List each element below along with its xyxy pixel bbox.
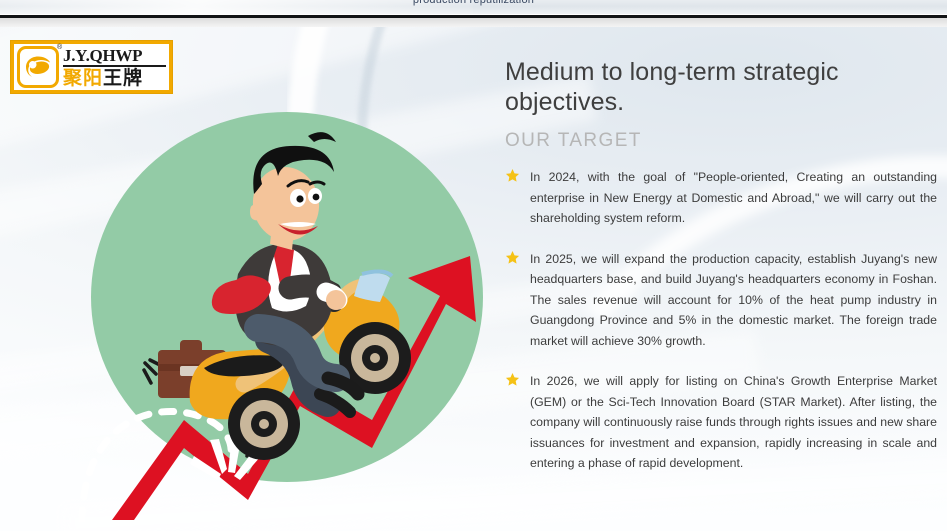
logo-char-1: 聚	[63, 69, 82, 88]
current-slide[interactable]: J.Y.QHWP ® 聚 阳 王 牌	[0, 27, 947, 531]
logo-inner: J.Y.QHWP ® 聚 阳 王 牌	[14, 44, 169, 90]
logo-char-3: 王	[103, 69, 122, 88]
section-subtitle: OUR TARGET	[505, 130, 937, 152]
list-item-text: In 2025, we will expand the production c…	[530, 249, 937, 352]
slide-gap	[0, 18, 947, 27]
registered-trademark-icon: ®	[57, 44, 62, 51]
scooter-growth-illustration	[72, 102, 492, 522]
bullet-list: In 2024, with the goal of "People-orient…	[505, 167, 937, 474]
list-item[interactable]: In 2025, we will expand the production c…	[505, 249, 937, 352]
list-item-text: In 2026, we will apply for listing on Ch…	[530, 371, 937, 474]
list-item-text: In 2024, with the goal of "People-orient…	[530, 167, 937, 229]
previous-slide-title: production reputilization	[0, 0, 947, 6]
logo-wordmark: J.Y.QHWP ® 聚 阳 王 牌	[59, 47, 166, 88]
star-icon	[505, 372, 520, 387]
company-logo[interactable]: J.Y.QHWP ® 聚 阳 王 牌	[10, 40, 173, 94]
logo-english-text: J.Y.QHWP	[63, 47, 166, 67]
list-item[interactable]: In 2024, with the goal of "People-orient…	[505, 167, 937, 229]
page-title: Medium to long-term strategic objectives…	[505, 57, 937, 117]
list-item[interactable]: In 2026, we will apply for listing on Ch…	[505, 371, 937, 474]
star-icon	[505, 250, 520, 265]
logo-char-4: 牌	[123, 69, 142, 88]
logo-chinese-text: 聚 阳 王 牌	[63, 69, 166, 88]
content-column: Medium to long-term strategic objectives…	[505, 57, 937, 494]
slide-viewer: production reputilization	[0, 0, 947, 531]
logo-char-2: 阳	[83, 69, 102, 88]
star-icon	[505, 168, 520, 183]
logo-emblem-icon	[17, 46, 59, 88]
previous-slide-sliver[interactable]: production reputilization	[0, 0, 947, 14]
